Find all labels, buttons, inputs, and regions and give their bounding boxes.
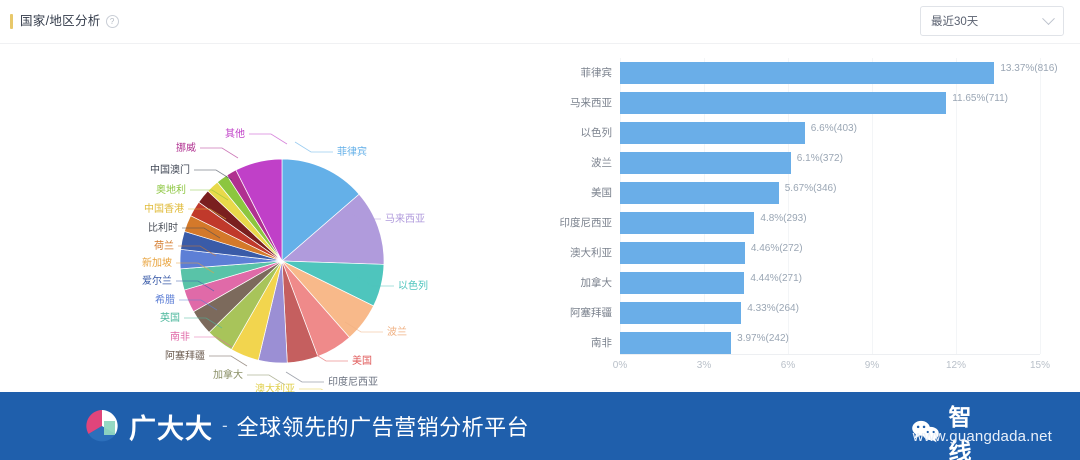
- brand-tagline: 全球领先的广告营销分析平台: [237, 410, 530, 442]
- bar-fill[interactable]: [620, 272, 744, 294]
- bar-category-label: 以色列: [540, 118, 612, 148]
- bar-row[interactable]: 菲律宾13.37%(816): [540, 58, 1080, 88]
- x-axis-tick-label: 6%: [781, 360, 795, 371]
- brand-separator: -: [222, 416, 228, 436]
- pie-slice-label: 印度尼西亚: [328, 377, 378, 388]
- bar-fill[interactable]: [620, 302, 741, 324]
- date-range-value: 最近30天: [931, 13, 1044, 29]
- bar-value-label: 13.37%(816): [994, 58, 1057, 80]
- pie-leader-line: [200, 148, 238, 158]
- footer-banner: 广大大 - 全球领先的广告营销分析平台 智线 www.guangdada.net: [0, 392, 1080, 460]
- x-axis-tick-label: 3%: [697, 360, 711, 371]
- pie-slice-label: 其他: [225, 129, 245, 140]
- bar-row[interactable]: 美国5.67%(346): [540, 178, 1080, 208]
- bar-track: [620, 122, 805, 144]
- bar-chart-axis-line: [620, 354, 1040, 355]
- pie-leader-line: [295, 142, 333, 152]
- bar-track: [620, 332, 731, 354]
- banner-brand-block: 广大大 - 全球领先的广告营销分析平台: [85, 392, 529, 460]
- bar-fill[interactable]: [620, 242, 745, 264]
- pie-leader-line: [299, 389, 337, 390]
- pie-slice-label: 以色列: [398, 281, 428, 292]
- bar-track: [620, 152, 791, 174]
- bar-category-label: 澳大利亚: [540, 238, 612, 268]
- pie-slice-label: 加拿大: [213, 370, 243, 381]
- bar-row[interactable]: 波兰6.1%(372): [540, 148, 1080, 178]
- bar-value-label: 4.46%(272): [745, 238, 803, 260]
- page-title: 国家/地区分析 ?: [10, 14, 119, 29]
- bar-row[interactable]: 印度尼西亚4.8%(293): [540, 208, 1080, 238]
- pie-slice-label: 荷兰: [154, 241, 174, 252]
- bar-value-label: 4.8%(293): [754, 208, 806, 230]
- bar-fill[interactable]: [620, 152, 791, 174]
- bar-track: [620, 62, 994, 84]
- bar-value-label: 11.65%(711): [946, 88, 1008, 110]
- bar-row[interactable]: 阿塞拜疆4.33%(264): [540, 298, 1080, 328]
- bar-category-label: 美国: [540, 178, 612, 208]
- bar-value-label: 6.6%(403): [805, 118, 857, 140]
- pie-chart-pane: 其他挪威中国澳门奥地利中国香港比利时荷兰新加坡爱尔兰希腊英国南非阿塞拜疆加拿大澳…: [0, 44, 540, 390]
- page-header: 国家/地区分析 ? 最近30天: [0, 0, 1080, 44]
- pie-slice-label: 希腊: [155, 295, 175, 306]
- pie-slice-label: 新加坡: [142, 258, 172, 269]
- bar-category-label: 南非: [540, 328, 612, 358]
- bar-chart-pane: 菲律宾13.37%(816)马来西亚11.65%(711)以色列6.6%(403…: [540, 44, 1080, 390]
- bar-value-label: 3.97%(242): [731, 328, 789, 350]
- guangdada-logo-icon: [85, 409, 119, 443]
- bar-track: [620, 272, 744, 294]
- pie-chart: 其他挪威中国澳门奥地利中国香港比利时荷兰新加坡爱尔兰希腊英国南非阿塞拜疆加拿大澳…: [0, 44, 540, 390]
- pie-leader-line: [249, 134, 287, 144]
- bar-fill[interactable]: [620, 62, 994, 84]
- bar-value-label: 5.67%(346): [779, 178, 837, 200]
- country-analysis-page: 国家/地区分析 ? 最近30天 其他挪威中国澳门奥地利中国香港比利时荷兰新加坡爱…: [0, 0, 1080, 460]
- pie-slice-label: 波兰: [387, 327, 407, 338]
- pie-chart-svg: [0, 44, 540, 390]
- pie-slice-label: 菲律宾: [337, 147, 367, 158]
- bar-value-label: 4.44%(271): [744, 268, 802, 290]
- pie-slice-label: 中国澳门: [150, 165, 190, 176]
- pie-leader-line: [286, 372, 324, 382]
- pie-slice-label: 英国: [160, 313, 180, 324]
- bar-row[interactable]: 以色列6.6%(403): [540, 118, 1080, 148]
- x-axis-tick-label: 0%: [613, 360, 627, 371]
- x-axis-tick-label: 9%: [865, 360, 879, 371]
- bar-fill[interactable]: [620, 182, 779, 204]
- website-url: www.guangdada.net: [913, 428, 1052, 445]
- pie-slice-label: 奥地利: [156, 185, 186, 196]
- bar-fill[interactable]: [620, 332, 731, 354]
- pie-leader-line: [209, 356, 247, 366]
- pie-slice-label: 挪威: [176, 143, 196, 154]
- bar-category-label: 马来西亚: [540, 88, 612, 118]
- pie-slice-label: 爱尔兰: [142, 276, 172, 287]
- pie-slice-label: 马来西亚: [385, 214, 425, 225]
- pie-slice-label: 比利时: [148, 223, 178, 234]
- pie-slice-label: 中国香港: [144, 204, 184, 215]
- question-mark-icon[interactable]: ?: [106, 15, 119, 28]
- bar-category-label: 加拿大: [540, 268, 612, 298]
- date-range-select[interactable]: 最近30天: [920, 6, 1064, 36]
- brand-name: 广大大: [129, 407, 213, 446]
- bar-category-label: 菲律宾: [540, 58, 612, 88]
- pie-slice-label: 阿塞拜疆: [165, 351, 205, 362]
- bar-row[interactable]: 马来西亚11.65%(711): [540, 88, 1080, 118]
- bar-fill[interactable]: [620, 212, 754, 234]
- pie-slice-label: 美国: [352, 356, 372, 367]
- bar-category-label: 波兰: [540, 148, 612, 178]
- bar-fill[interactable]: [620, 92, 946, 114]
- pie-slice-label: 南非: [170, 332, 190, 343]
- bar-fill[interactable]: [620, 122, 805, 144]
- title-accent-bar: [10, 14, 13, 29]
- pie-slice-group: [180, 159, 384, 363]
- bar-track: [620, 212, 754, 234]
- bar-track: [620, 302, 741, 324]
- x-axis-tick-label: 12%: [946, 360, 966, 371]
- bar-category-label: 阿塞拜疆: [540, 298, 612, 328]
- bar-value-label: 4.33%(264): [741, 298, 799, 320]
- bar-row[interactable]: 加拿大4.44%(271): [540, 268, 1080, 298]
- bar-value-label: 6.1%(372): [791, 148, 843, 170]
- bar-chart: 菲律宾13.37%(816)马来西亚11.65%(711)以色列6.6%(403…: [540, 44, 1080, 390]
- x-axis-tick-label: 15%: [1030, 360, 1050, 371]
- page-title-text: 国家/地区分析: [20, 14, 101, 29]
- bar-category-label: 印度尼西亚: [540, 208, 612, 238]
- chevron-down-icon: [1042, 12, 1055, 25]
- bar-track: [620, 92, 946, 114]
- bar-track: [620, 182, 779, 204]
- bar-track: [620, 242, 745, 264]
- bar-row[interactable]: 澳大利亚4.46%(272): [540, 238, 1080, 268]
